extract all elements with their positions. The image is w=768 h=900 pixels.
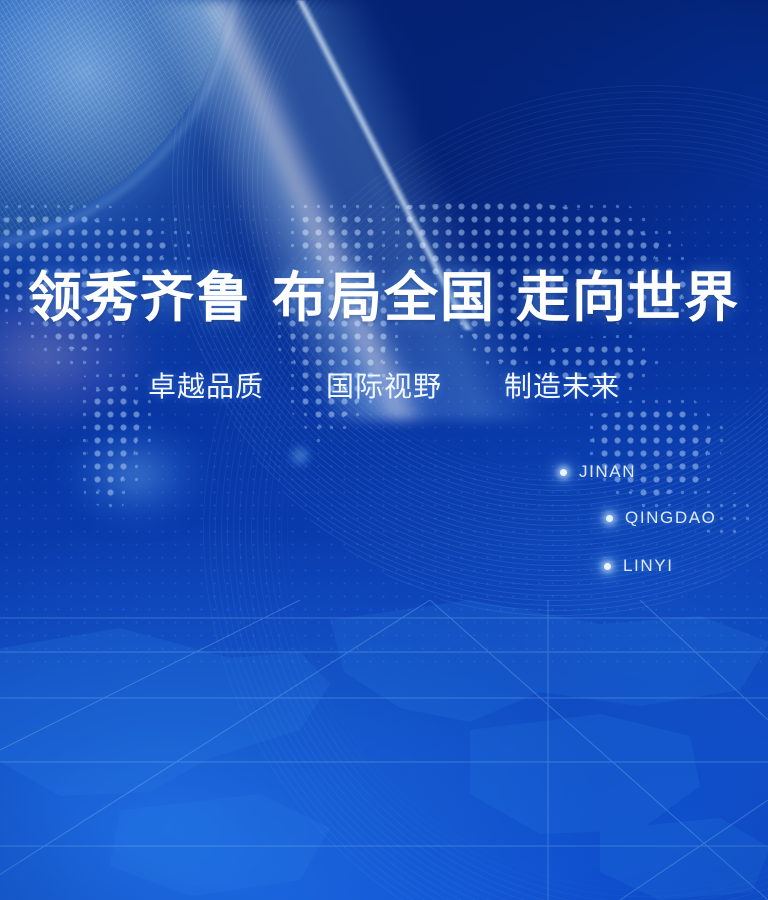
headline-part-1: 领秀齐鲁: [28, 265, 252, 329]
city-marker-dot-icon: [604, 563, 611, 570]
map-marker-jinan[interactable]: JINAN: [560, 462, 636, 482]
page-subtitle: 卓越品质国际视野制造未来: [0, 370, 768, 404]
headline-part-3: 走向世界: [516, 265, 740, 329]
subline-part-2: 国际视野: [326, 370, 442, 403]
map-marker-qingdao[interactable]: QINGDAO: [606, 508, 717, 528]
city-marker-dot-icon: [606, 515, 613, 522]
map-marker-label: LINYI: [623, 556, 674, 576]
page-title: 领秀齐鲁布局全国走向世界: [0, 268, 768, 326]
subline-part-3: 制造未来: [504, 370, 620, 403]
hero-banner: 领秀齐鲁布局全国走向世界 卓越品质国际视野制造未来 JINAN QINGDAO …: [0, 0, 768, 900]
headline-part-2: 布局全国: [272, 265, 496, 329]
banner-content: 领秀齐鲁布局全国走向世界 卓越品质国际视野制造未来 JINAN QINGDAO …: [0, 0, 768, 900]
map-marker-label: JINAN: [579, 462, 636, 482]
map-marker-linyi[interactable]: LINYI: [604, 556, 674, 576]
map-marker-label: QINGDAO: [625, 508, 717, 528]
subline-part-1: 卓越品质: [148, 370, 264, 403]
city-marker-dot-icon: [560, 469, 567, 476]
